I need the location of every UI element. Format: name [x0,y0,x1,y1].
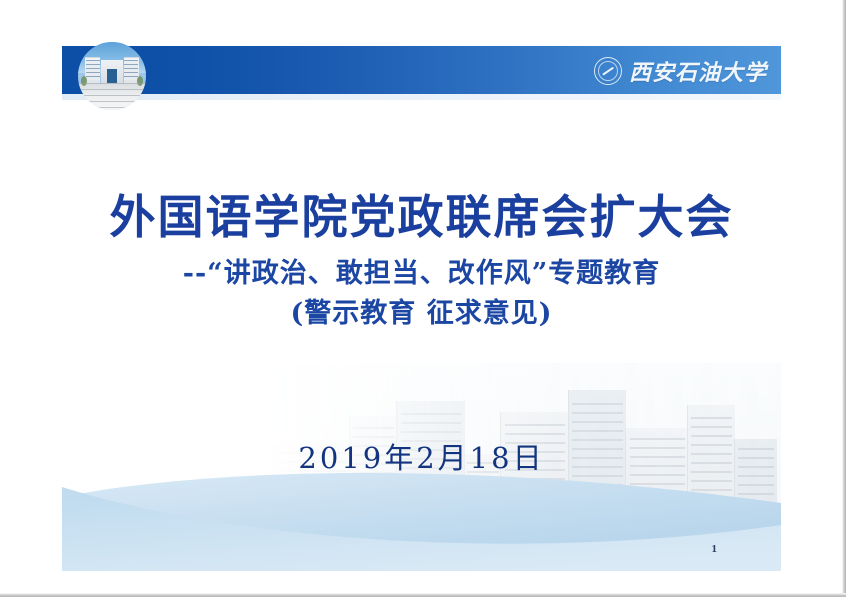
campus-building-photo-icon [78,42,146,110]
header-underline [62,94,781,100]
page-bottom-border [0,593,846,597]
university-wordmark: 西安石油大学 [629,55,767,87]
presentation-slide: 西安石油大学 外国语学院党政联席会扩大会 --“讲政治、敢担当、改作风”专题教育… [62,40,781,571]
page-right-border [842,0,846,597]
slide-date: 2019年2月18日 [62,435,781,477]
document-page: 西安石油大学 外国语学院党政联席会扩大会 --“讲政治、敢担当、改作风”专题教育… [0,0,846,597]
slide-subtitle-line-1: --“讲政治、敢担当、改作风”专题教育 [62,257,781,291]
title-block: 外国语学院党政联席会扩大会 --“讲政治、敢担当、改作风”专题教育 (警示教育 … [62,190,781,331]
university-logo: 西安石油大学 [594,55,767,87]
slide-header-bar: 西安石油大学 [62,46,781,94]
slide-title: 外国语学院党政联席会扩大会 [62,190,781,245]
slide-page-number: 1 [712,543,718,555]
university-emblem-icon [594,57,622,85]
slide-subtitle-line-2: (警示教育 征求意见) [62,297,781,331]
